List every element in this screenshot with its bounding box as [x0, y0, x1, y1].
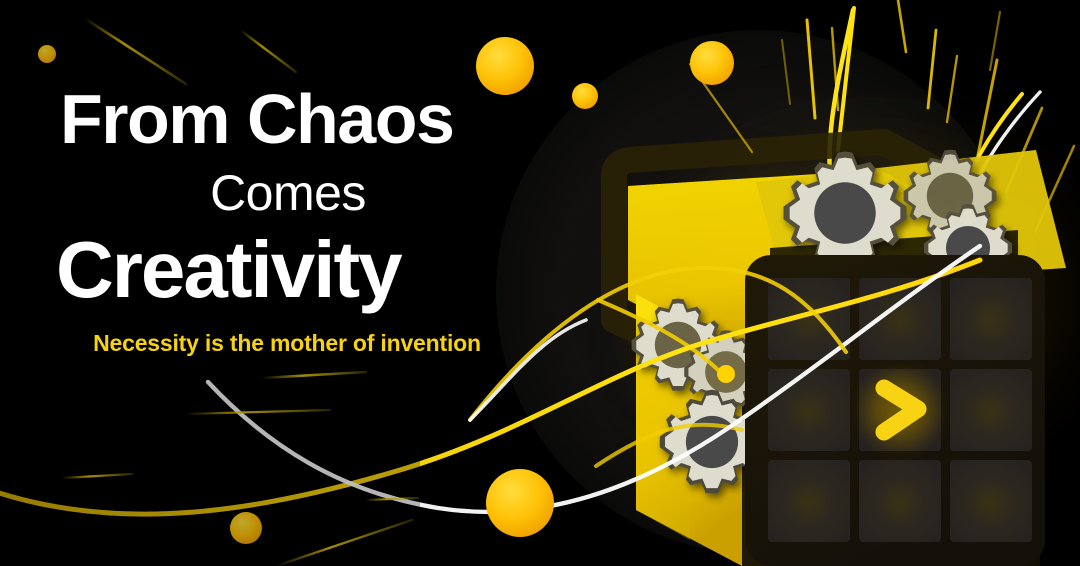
tile-panel-group [745, 255, 1045, 566]
background-artwork [0, 0, 1080, 566]
dot-2 [476, 37, 534, 95]
tile-3 [768, 369, 850, 451]
dot-4 [690, 41, 734, 85]
dot-3 [572, 83, 598, 109]
tile-5 [950, 369, 1032, 451]
tile-7 [859, 460, 941, 542]
promo-banner: From Chaos Comes Creativity Necessity is… [0, 0, 1080, 566]
tile-6 [768, 460, 850, 542]
tile-2 [950, 278, 1032, 360]
dot-5 [486, 469, 554, 537]
tile-8 [950, 460, 1032, 542]
